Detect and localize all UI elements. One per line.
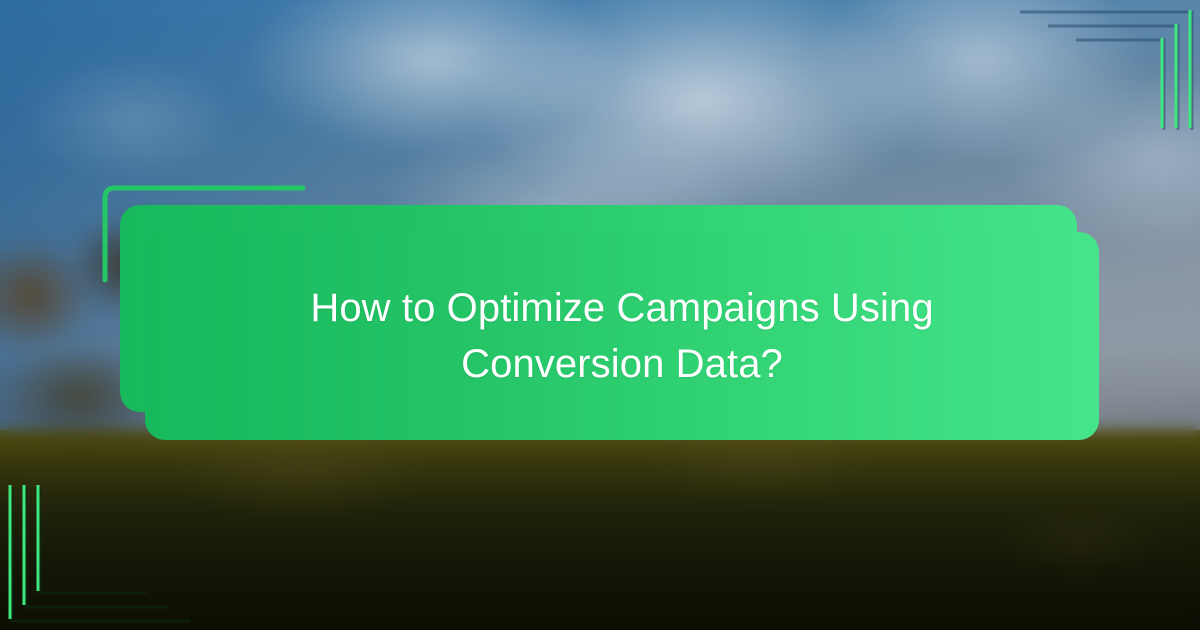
page-title: How to Optimize Campaigns Using Conversi… xyxy=(262,280,982,392)
title-container: How to Optimize Campaigns Using Conversi… xyxy=(145,232,1099,440)
og-image-canvas: How to Optimize Campaigns Using Conversi… xyxy=(0,0,1200,630)
title-card-stack: How to Optimize Campaigns Using Conversi… xyxy=(0,0,1200,630)
